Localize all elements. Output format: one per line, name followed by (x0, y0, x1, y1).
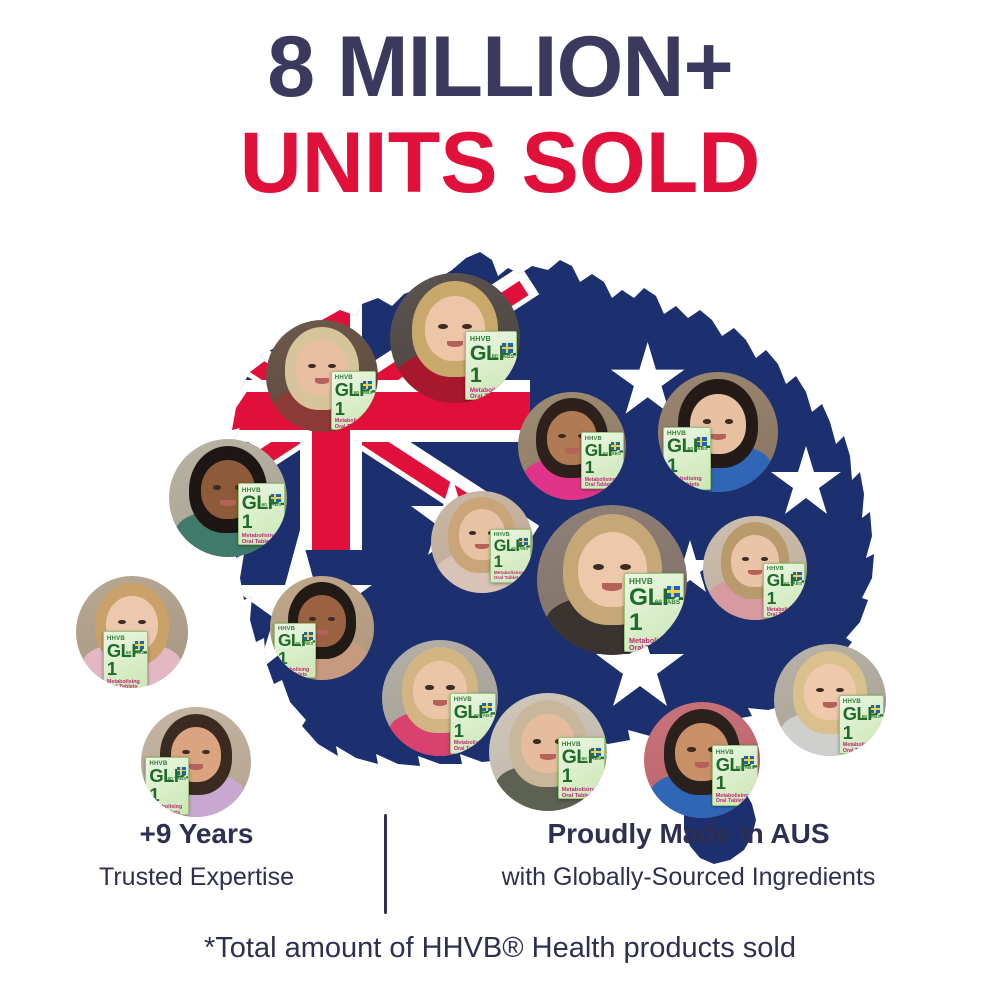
photo-eye-left (308, 364, 316, 368)
customer-photo-13: HHVBGLP-1Metabolising Oral Tablets60 TAB… (644, 702, 760, 818)
customer-photo-7: HHVBGLP-1Metabolising Oral Tablets60 TAB… (703, 516, 807, 620)
customer-photo-8: HHVBGLP-1Metabolising Oral Tablets60 TAB… (76, 576, 188, 688)
headline-block: 8 MILLION+ UNITS SOLD (0, 0, 1000, 207)
customer-photo-15: HHVBGLP-1Metabolising Oral Tablets60 TAB… (141, 707, 251, 817)
years-subtext: Trusted Expertise (32, 861, 362, 894)
product-badge: 60 TABS (295, 641, 313, 646)
customer-photo-6: HHVBGLP-1Metabolising Oral Tablets60 TAB… (431, 491, 533, 593)
sweden-flag-icon (793, 572, 802, 579)
australia-map-stage: HHVBGLP-1Metabolising Oral Tablets60 TAB… (0, 240, 1000, 880)
product-box-glp1: HHVBGLP-1Metabolising Oral Tablets60 TAB… (238, 483, 285, 545)
sweden-flag-icon (177, 767, 186, 775)
photo-mouth (220, 500, 235, 506)
photo-mouth (823, 702, 837, 708)
photo-mouth (475, 544, 488, 549)
product-box-glp1: HHVBGLP-1Metabolising Oral Tablets60 TAB… (103, 631, 148, 688)
sweden-flag-icon (667, 586, 680, 597)
customer-photo-9: HHVBGLP-1Metabolising Oral Tablets60 TAB… (270, 576, 374, 680)
product-badge: 60 TABS (492, 354, 514, 360)
customer-photo-5: HHVBGLP-1Metabolising Oral Tablets60 TAB… (169, 439, 287, 557)
product-feature-list (582, 488, 623, 489)
photo-mouth (695, 762, 710, 768)
product-badge: 60 TABS (581, 757, 601, 762)
product-subtitle: Metabolising Oral Tablets (764, 607, 804, 618)
photo-eye-left (182, 750, 190, 754)
product-subtitle: Metabolising Oral Tablets (466, 386, 516, 400)
sweden-flag-icon (871, 705, 880, 713)
product-subtitle: Metabolising Oral Tablets (713, 793, 757, 805)
photo-eye-left (687, 747, 696, 752)
photo-eye-left (703, 419, 712, 424)
product-badge: 60 TABS (688, 447, 708, 452)
photo-mouth (433, 700, 448, 706)
product-badge: 60 TABS (354, 390, 373, 395)
footer-block: +9 Years Trusted Expertise Proudly Made … (0, 812, 1000, 965)
product-box-glp1: HHVBGLP-1Metabolising Oral Tablets60 TAB… (581, 432, 624, 489)
photo-mouth (565, 448, 579, 453)
product-box-glp1: HHVBGLP-1Metabolising Oral Tablets60 TAB… (763, 563, 805, 618)
photo-eye-left (309, 617, 317, 621)
photo-eye-left (469, 531, 477, 535)
years-headline: +9 Years (32, 816, 362, 851)
photo-eye-left (742, 557, 750, 561)
photo-eye-right (328, 617, 336, 621)
sweden-flag-icon (519, 538, 528, 545)
product-box-glp1: HHVBGLP-1Metabolising Oral Tablets60 TAB… (145, 757, 189, 815)
sweden-flag-icon (591, 748, 601, 756)
customer-photo-10: HHVBGLP-1Metabolising Oral Tablets60 TAB… (537, 505, 687, 655)
photo-mouth (189, 764, 203, 770)
product-badge: 60 TABS (167, 776, 186, 781)
photo-eye-left (533, 739, 542, 744)
product-subtitle: Metabolising Oral Tablets (625, 635, 683, 651)
product-subtitle: Metabolising Oral Tablets (840, 742, 883, 754)
footer-left-column: +9 Years Trusted Expertise (32, 812, 362, 894)
sweden-flag-icon (697, 437, 707, 446)
product-box-glp1: HHVBGLP-1Metabolising Oral Tablets60 TAB… (624, 573, 684, 652)
product-subtitle: Metabolising Oral Tablets (582, 476, 623, 487)
product-box-glp1: HHVBGLP-1Metabolising Oral Tablets60 TAB… (331, 371, 376, 430)
photo-mouth (602, 583, 621, 591)
sweden-flag-icon (744, 756, 754, 764)
photo-eye-left (438, 324, 448, 329)
photo-eye-right (202, 750, 210, 754)
product-badge: 60 TABS (511, 546, 528, 551)
sweden-flag-icon (304, 632, 313, 639)
photo-eye-left (425, 685, 434, 690)
sweden-flag-icon (611, 442, 620, 450)
photo-eye-right (761, 557, 769, 561)
product-subtitle: Metabolising Oral Tablets (104, 679, 147, 688)
made-in-aus-headline: Proudly Made in AUS (409, 816, 969, 851)
product-subtitle: Metabolising Oral Tablets (239, 533, 284, 546)
photo-eye-left (593, 564, 604, 570)
product-feature-list (491, 582, 530, 583)
product-box-glp1: HHVBGLP-1Metabolising Oral Tablets60 TAB… (274, 623, 316, 678)
photo-eye-left (816, 688, 824, 692)
footer-columns: +9 Years Trusted Expertise Proudly Made … (0, 812, 1000, 914)
product-badge: 60 TABS (655, 599, 680, 606)
customer-photo-11: HHVBGLP-1Metabolising Oral Tablets60 TAB… (382, 640, 498, 756)
photo-mouth (710, 434, 725, 440)
product-subtitle: Metabolising Oral Tablets (491, 571, 530, 582)
photo-eye-right (620, 564, 631, 570)
photo-eye-right (138, 620, 146, 624)
product-box-glp1: HHVBGLP-1Metabolising Oral Tablets60 TAB… (465, 331, 517, 400)
customer-photo-4: HHVBGLP-1Metabolising Oral Tablets60 TAB… (658, 372, 778, 492)
sweden-flag-icon (502, 343, 513, 352)
sweden-flag-icon (135, 641, 144, 649)
footer-right-column: Proudly Made in AUS with Globally-Source… (409, 812, 969, 894)
made-in-aus-subtext: with Globally-Sourced Ingredients (409, 861, 969, 894)
photo-mouth (748, 570, 761, 575)
photo-eye-right (836, 688, 844, 692)
disclaimer-note: *Total amount of HHVB® Health products s… (0, 932, 1000, 965)
product-badge: 60 TABS (126, 650, 145, 655)
product-box-glp1: HHVBGLP-1Metabolising Oral Tablets60 TAB… (839, 695, 884, 754)
product-subtitle: Metabolising Oral Tablets (664, 476, 710, 489)
product-badge: 60 TABS (862, 714, 881, 719)
product-box-glp1: HHVBGLP-1Metabolising Oral Tablets60 TAB… (558, 737, 605, 799)
product-box-glp1: HHVBGLP-1Metabolising Oral Tablets60 TAB… (490, 529, 531, 583)
photo-mouth (540, 754, 555, 760)
photo-eye-right (328, 364, 336, 368)
product-subtitle: Metabolising Oral Tablets (332, 418, 375, 430)
sweden-flag-icon (363, 381, 372, 389)
sweden-flag-icon (271, 494, 281, 502)
product-badge: 60 TABS (603, 451, 621, 456)
photo-eye-left (118, 620, 126, 624)
product-subtitle: Metabolising Oral Tablets (559, 787, 604, 800)
product-badge: 60 TABS (784, 581, 802, 586)
photo-eye-right (462, 324, 472, 329)
customer-photo-1: HHVBGLP-1Metabolising Oral Tablets60 TAB… (266, 320, 378, 432)
photo-eye-left (213, 485, 222, 490)
photo-mouth (315, 378, 329, 384)
photo-eye-left (558, 434, 566, 438)
product-box-glp1: HHVBGLP-1Metabolising Oral Tablets60 TAB… (712, 745, 758, 806)
footer-divider (384, 814, 387, 914)
headline-units-sold: UNITS SOLD (0, 120, 1000, 208)
photo-mouth (447, 341, 464, 348)
product-badge: 60 TABS (736, 765, 755, 770)
headline-units-count: 8 MILLION+ (0, 24, 1000, 112)
photo-mouth (315, 630, 328, 635)
customer-photo-3: HHVBGLP-1Metabolising Oral Tablets60 TAB… (518, 392, 626, 500)
customer-photo-2: HHVBGLP-1Metabolising Oral Tablets60 TAB… (390, 273, 520, 403)
customer-photo-14: HHVBGLP-1Metabolising Oral Tablets60 TAB… (774, 644, 886, 756)
product-subtitle: Metabolising Oral Tablets (275, 667, 315, 678)
product-badge: 60 TABS (261, 503, 281, 508)
photo-eye-right (725, 419, 734, 424)
product-box-glp1: HHVBGLP-1Metabolising Oral Tablets60 TAB… (663, 427, 711, 490)
customer-photo-12: HHVBGLP-1Metabolising Oral Tablets60 TAB… (489, 693, 607, 811)
photo-eye-right (446, 685, 455, 690)
product-feature-list (664, 489, 710, 490)
